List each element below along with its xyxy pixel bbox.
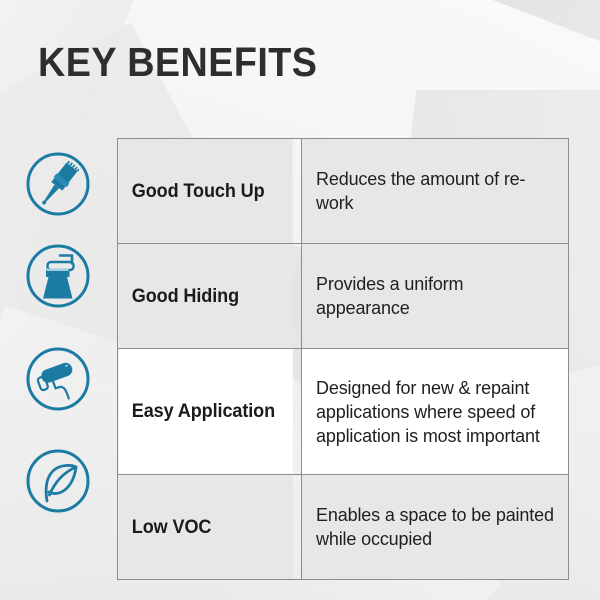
table-row: Good Hiding Provides a uniform appearanc… — [118, 244, 569, 349]
benefit-icon-slot-4 — [24, 435, 92, 527]
table-row: Low VOC Enables a space to be painted wh… — [118, 475, 569, 580]
benefit-description: Reduces the amount of re-work — [302, 139, 569, 244]
benefit-description: Enables a space to be painted while occu… — [302, 475, 569, 580]
benefit-name: Low VOC — [118, 475, 293, 580]
benefit-name: Good Touch Up — [118, 139, 293, 244]
paint-roller-coverage-icon — [25, 243, 91, 309]
table-row: Good Touch Up Reduces the amount of re-w… — [118, 139, 569, 244]
benefit-icon-slot-3 — [24, 322, 92, 435]
benefit-icon-slot-2 — [24, 230, 92, 322]
benefits-table: Good Touch Up Reduces the amount of re-w… — [117, 138, 569, 580]
benefit-icon-rail — [24, 138, 92, 527]
leaf-icon — [25, 448, 91, 514]
benefit-name: Good Hiding — [118, 244, 293, 349]
table-row: Easy Application Designed for new & repa… — [118, 349, 569, 475]
benefit-description: Designed for new & repaint applications … — [302, 349, 569, 475]
benefit-icon-slot-1 — [24, 138, 92, 230]
paint-brush-icon — [25, 151, 91, 217]
paint-roller-icon — [25, 346, 91, 412]
page-title: KEY BENEFITS — [38, 38, 317, 86]
benefit-description: Provides a uniform appearance — [302, 244, 569, 349]
key-benefits-poster: KEY BENEFITS — [0, 0, 600, 600]
benefit-name: Easy Application — [118, 349, 293, 475]
